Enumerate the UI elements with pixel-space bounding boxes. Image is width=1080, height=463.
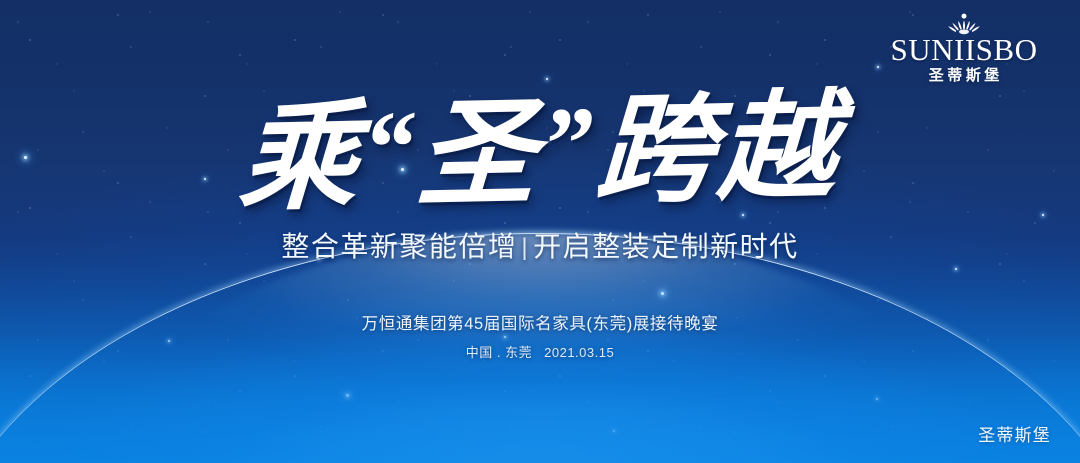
bright-star: [504, 336, 506, 338]
logo-chinese-name: 圣蒂斯堡: [878, 66, 1050, 85]
brand-logo: SUNIISBO 圣蒂斯堡: [878, 13, 1050, 85]
event-date: 2021.03.15: [544, 345, 614, 360]
bright-star: [613, 430, 615, 432]
subtitle: 整合革新聚能倍增|开启整装定制新时代: [0, 230, 1080, 266]
event-place-date: 中国 . 东莞2021.03.15: [0, 344, 1080, 362]
subtitle-divider: |: [517, 231, 533, 265]
headline-quote-close: ”: [537, 86, 599, 202]
subtitle-left: 整合革新聚能倍增: [281, 231, 517, 262]
headline-part-3: 跨越: [593, 76, 844, 220]
bright-star: [955, 268, 957, 270]
bright-star: [346, 394, 349, 397]
headline-quote-open: “: [359, 90, 421, 206]
logo-wordmark: SUNIISBO: [878, 33, 1050, 66]
bright-star: [876, 398, 878, 400]
headline-part-2: 圣: [414, 82, 543, 224]
watermark-label: 圣蒂斯堡: [978, 426, 1051, 446]
bright-star: [661, 292, 664, 295]
event-banner: SUNIISBO 圣蒂斯堡 乘“圣”跨越 整合革新聚能倍增|开启整装定制新时代 …: [0, 0, 1080, 463]
bright-star: [168, 340, 170, 342]
page-title: 乘“圣”跨越: [0, 75, 1080, 223]
headline-part-1: 乘: [236, 86, 365, 228]
bright-star: [546, 78, 548, 80]
event-location: 中国 . 东莞: [466, 345, 532, 360]
subtitle-right: 开启整装定制新时代: [533, 231, 799, 262]
bright-star: [1042, 214, 1044, 216]
event-title: 万恒通集团第45届国际名家具(东莞)展接待晚宴: [0, 313, 1080, 335]
